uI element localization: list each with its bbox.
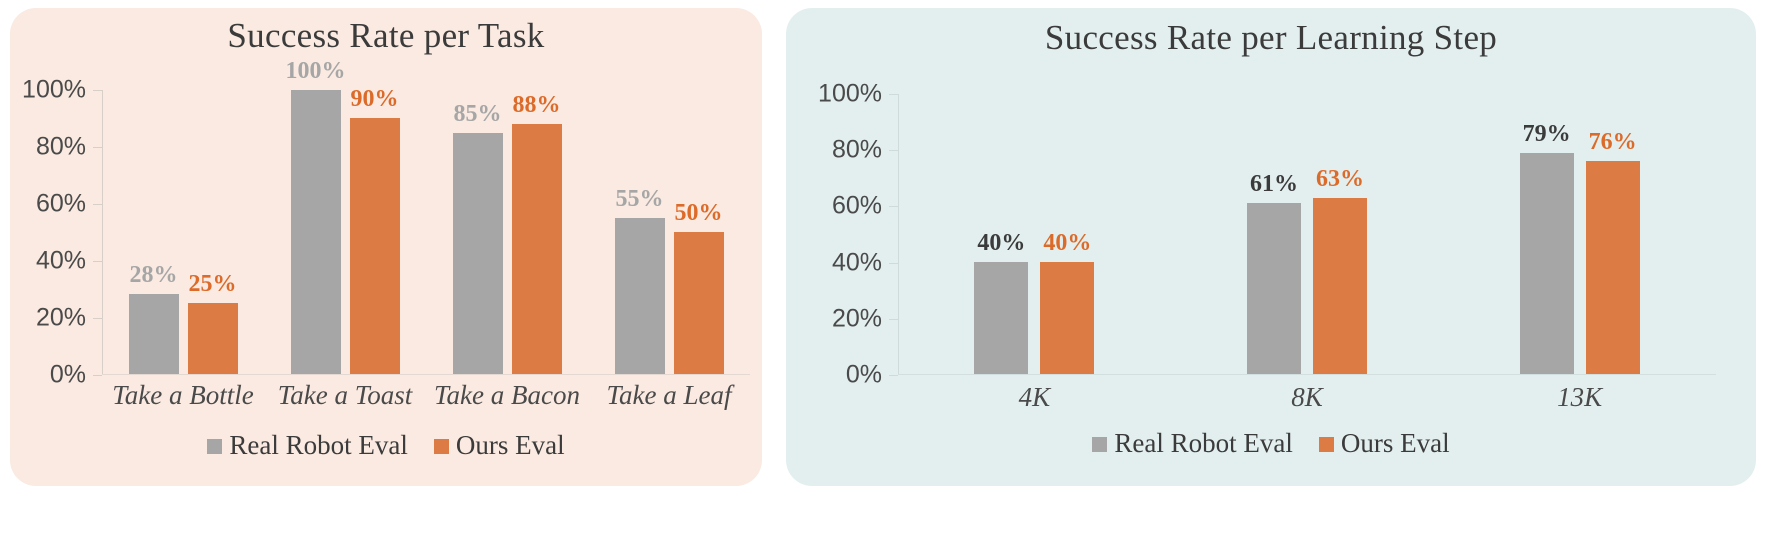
y-tick-left-20 bbox=[93, 318, 102, 319]
y-axis-label-right-60: 60% bbox=[832, 192, 882, 221]
bar-group-4k: 40% 40% bbox=[898, 94, 1171, 374]
legend-item-ours-eval[interactable]: Ours Eval bbox=[1319, 428, 1450, 459]
bar-slot-orange: 40% bbox=[1040, 94, 1094, 374]
x-axis-line-left bbox=[102, 374, 750, 375]
y-tick-right-80 bbox=[889, 150, 898, 151]
plot-area-right: 100% 80% 60% 40% 20% 0% 40% bbox=[898, 94, 1716, 375]
bar-value-label: 76% bbox=[1589, 129, 1637, 156]
bar-value-label: 79% bbox=[1523, 121, 1571, 148]
bar-real-robot-eval[interactable]: 55% bbox=[615, 218, 665, 374]
bar-slot-gray: 85% bbox=[453, 90, 503, 374]
y-tick-right-100 bbox=[889, 94, 898, 95]
y-axis-label-right-20: 20% bbox=[832, 304, 882, 333]
legend-item-ours-eval[interactable]: Ours Eval bbox=[434, 430, 565, 461]
bar-real-robot-eval[interactable]: 61% bbox=[1247, 203, 1301, 374]
legend-swatch-icon bbox=[1092, 437, 1107, 452]
bar-slot-orange: 50% bbox=[674, 90, 724, 374]
bar-slot-gray: 28% bbox=[129, 90, 179, 374]
bar-real-robot-eval[interactable]: 85% bbox=[453, 133, 503, 374]
bar-ours-eval[interactable]: 90% bbox=[350, 118, 400, 374]
legend-right: Real Robot Eval Ours Eval bbox=[786, 428, 1756, 459]
legend-item-real-robot-eval[interactable]: Real Robot Eval bbox=[1092, 428, 1292, 459]
legend-label: Ours Eval bbox=[1341, 428, 1450, 459]
bar-slot-gray: 61% bbox=[1247, 94, 1301, 374]
x-category-label: Take a Bacon bbox=[426, 380, 588, 411]
y-tick-right-40 bbox=[889, 263, 898, 264]
bar-group-take-a-bottle: 28% 25% bbox=[102, 90, 264, 374]
bar-group-take-a-toast: 100% 90% bbox=[264, 90, 426, 374]
y-axis-label-right-80: 80% bbox=[832, 136, 882, 165]
bar-value-label: 88% bbox=[513, 92, 561, 119]
y-tick-left-40 bbox=[93, 261, 102, 262]
bar-ours-eval[interactable]: 40% bbox=[1040, 262, 1094, 374]
bar-value-label: 50% bbox=[675, 200, 723, 227]
x-category-label: Take a Leaf bbox=[588, 380, 750, 411]
y-tick-right-0 bbox=[889, 375, 898, 376]
y-axis-label-left-0: 0% bbox=[50, 361, 86, 390]
legend-label: Real Robot Eval bbox=[1114, 428, 1292, 459]
chart-title-left: Success Rate per Task bbox=[10, 16, 762, 56]
x-category-label: Take a Toast bbox=[264, 380, 426, 411]
legend-left: Real Robot Eval Ours Eval bbox=[10, 430, 762, 461]
x-category-label: 4K bbox=[898, 382, 1171, 413]
bar-real-robot-eval[interactable]: 40% bbox=[974, 262, 1028, 374]
legend-item-real-robot-eval[interactable]: Real Robot Eval bbox=[207, 430, 407, 461]
y-axis-label-right-100: 100% bbox=[818, 80, 882, 109]
bar-slot-gray: 100% bbox=[291, 90, 341, 374]
y-axis-label-left-100: 100% bbox=[22, 76, 86, 105]
legend-label: Ours Eval bbox=[456, 430, 565, 461]
y-axis-label-left-80: 80% bbox=[36, 133, 86, 162]
bar-real-robot-eval[interactable]: 28% bbox=[129, 294, 179, 374]
y-axis-label-left-60: 60% bbox=[36, 190, 86, 219]
y-tick-left-0 bbox=[93, 375, 102, 376]
legend-swatch-icon bbox=[1319, 437, 1334, 452]
y-axis-label-left-40: 40% bbox=[36, 247, 86, 276]
bar-slot-orange: 88% bbox=[512, 90, 562, 374]
bar-ours-eval[interactable]: 63% bbox=[1313, 198, 1367, 374]
bar-ours-eval[interactable]: 88% bbox=[512, 124, 562, 374]
chart-title-right: Success Rate per Learning Step bbox=[786, 18, 1756, 58]
x-category-label: 13K bbox=[1443, 382, 1716, 413]
x-axis-line-right bbox=[898, 374, 1716, 375]
bar-value-label: 90% bbox=[351, 86, 399, 113]
x-axis-category-labels-left: Take a Bottle Take a Toast Take a Bacon … bbox=[102, 380, 750, 411]
bar-group-take-a-bacon: 85% 88% bbox=[426, 90, 588, 374]
bar-value-label: 28% bbox=[130, 262, 178, 289]
y-tick-left-80 bbox=[93, 147, 102, 148]
bar-slot-gray: 55% bbox=[615, 90, 665, 374]
bar-slot-orange: 63% bbox=[1313, 94, 1367, 374]
bar-value-label: 55% bbox=[616, 186, 664, 213]
legend-swatch-icon bbox=[207, 439, 222, 454]
x-category-label: Take a Bottle bbox=[102, 380, 264, 411]
bar-slot-orange: 76% bbox=[1586, 94, 1640, 374]
bar-group-take-a-leaf: 55% 50% bbox=[588, 90, 750, 374]
y-axis-label-right-40: 40% bbox=[832, 248, 882, 277]
plot-area-left: 100% 80% 60% 40% 20% 0% 28% bbox=[102, 90, 750, 375]
bar-value-label: 85% bbox=[454, 101, 502, 128]
bar-value-label: 40% bbox=[1043, 230, 1091, 257]
bar-ours-eval[interactable]: 76% bbox=[1586, 161, 1640, 374]
y-axis-label-right-0: 0% bbox=[846, 361, 882, 390]
bar-slot-gray: 79% bbox=[1520, 94, 1574, 374]
bar-slot-orange: 90% bbox=[350, 90, 400, 374]
bar-slot-gray: 40% bbox=[974, 94, 1028, 374]
bar-real-robot-eval[interactable]: 79% bbox=[1520, 153, 1574, 374]
bar-value-label: 61% bbox=[1250, 171, 1298, 198]
legend-label: Real Robot Eval bbox=[229, 430, 407, 461]
bar-value-label: 63% bbox=[1316, 166, 1364, 193]
figure-board: Success Rate per Task 100% 80% 60% 40% 2… bbox=[0, 0, 1774, 550]
bar-ours-eval[interactable]: 25% bbox=[188, 303, 238, 374]
y-tick-left-100 bbox=[93, 90, 102, 91]
x-axis-category-labels-right: 4K 8K 13K bbox=[898, 382, 1716, 413]
bar-group-8k: 61% 63% bbox=[1171, 94, 1444, 374]
bar-value-label: 40% bbox=[977, 230, 1025, 257]
y-tick-right-60 bbox=[889, 206, 898, 207]
bar-value-label: 25% bbox=[189, 271, 237, 298]
legend-swatch-icon bbox=[434, 439, 449, 454]
bar-ours-eval[interactable]: 50% bbox=[674, 232, 724, 374]
y-tick-right-20 bbox=[889, 319, 898, 320]
chart-panel-success-rate-per-task: Success Rate per Task 100% 80% 60% 40% 2… bbox=[10, 8, 762, 486]
bar-groups-right: 40% 40% 61% bbox=[898, 94, 1716, 374]
bar-slot-orange: 25% bbox=[188, 90, 238, 374]
y-axis-label-left-20: 20% bbox=[36, 304, 86, 333]
y-tick-left-60 bbox=[93, 204, 102, 205]
bar-real-robot-eval[interactable]: 100% bbox=[291, 90, 341, 374]
bar-groups-left: 28% 25% 100% bbox=[102, 90, 750, 374]
bar-group-13k: 79% 76% bbox=[1443, 94, 1716, 374]
bar-value-label: 100% bbox=[286, 58, 346, 85]
chart-panel-success-rate-per-learning-step: Success Rate per Learning Step 100% 80% … bbox=[786, 8, 1756, 486]
x-category-label: 8K bbox=[1171, 382, 1444, 413]
